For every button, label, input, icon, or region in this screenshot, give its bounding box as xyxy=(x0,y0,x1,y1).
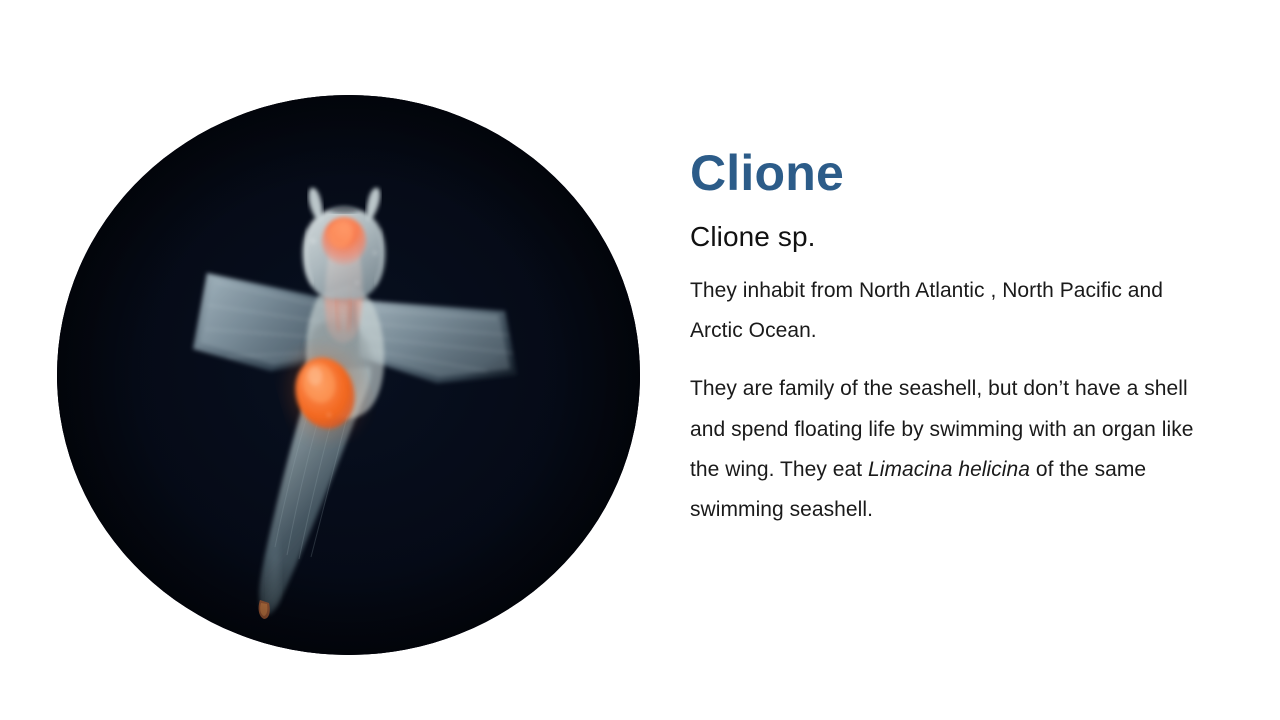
clione-photograph xyxy=(57,95,640,655)
clione-illustration xyxy=(57,95,640,655)
clione-photo-container xyxy=(57,95,640,655)
paragraph-habitat: They inhabit from North Atlantic , North… xyxy=(690,271,1218,352)
paragraph-biology: They are family of the seashell, but don… xyxy=(690,369,1218,530)
slide-root: Clione Clione sp. They inhabit from Nort… xyxy=(0,0,1280,720)
page-title: Clione xyxy=(690,140,1218,200)
scientific-name-subtitle: Clione sp. xyxy=(690,220,1218,254)
text-column: Clione Clione sp. They inhabit from Nort… xyxy=(690,140,1218,530)
species-name-italic: Limacina helicina xyxy=(868,458,1030,481)
